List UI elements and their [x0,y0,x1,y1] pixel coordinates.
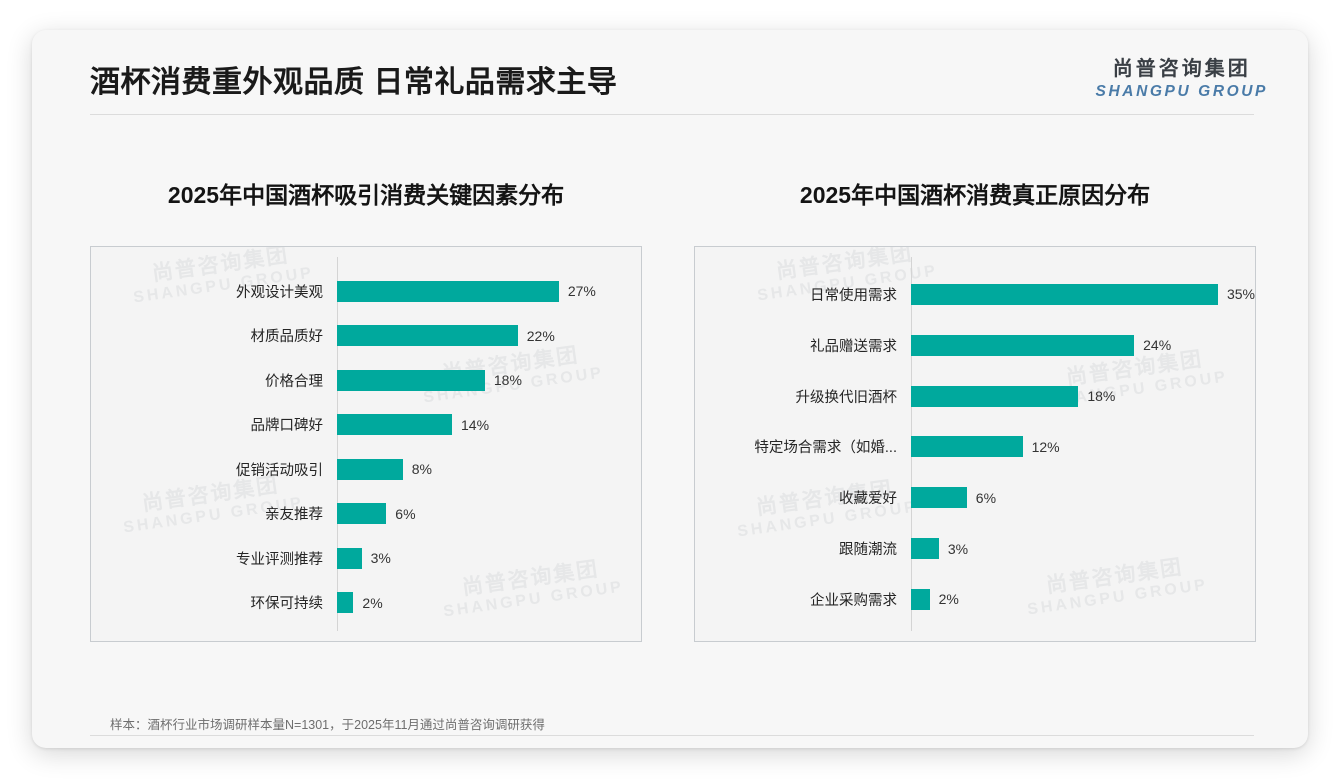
bar-track: 6% [337,501,641,527]
bar-value-label: 18% [1087,388,1115,404]
bar-category-label: 升级换代旧酒杯 [695,386,911,407]
bar-row: 收藏爱好6% [695,485,1255,511]
slide-footer: ©2026.1 SHANGPU GROUP www.shangpu-china.… [32,736,1308,748]
bar-value-label: 2% [939,591,959,607]
bar-row: 环保可持续2% [91,590,641,616]
slide-canvas: 酒杯消费重外观品质 日常礼品需求主导 尚普咨询集团 SHANGPU GROUP … [32,30,1308,748]
bar-category-label: 材质品质好 [91,325,337,346]
bar-row: 材质品质好22% [91,323,641,349]
bar-category-label: 日常使用需求 [695,284,911,305]
bar-row: 跟随潮流3% [695,536,1255,562]
bar-segment[interactable] [911,386,1078,407]
bar-value-label: 3% [948,541,968,557]
bar-track: 22% [337,323,641,349]
bar-track: 14% [337,412,641,438]
bar-segment[interactable] [337,592,353,613]
bar-category-label: 价格合理 [91,370,337,391]
bar-category-label: 跟随潮流 [695,538,911,559]
bar-segment[interactable] [337,503,386,524]
bar-category-label: 企业采购需求 [695,589,911,610]
bar-category-label: 专业评测推荐 [91,548,337,569]
bar-row: 亲友推荐6% [91,501,641,527]
bar-segment[interactable] [911,538,939,559]
sample-note: 样本：酒杯行业市场调研样本量N=1301，于2025年11月通过尚普咨询调研获得 [110,714,545,733]
bar-track: 3% [337,545,641,571]
bar-track: 3% [911,536,1255,562]
bar-segment[interactable] [911,487,967,508]
bar-value-label: 2% [362,595,382,611]
bar-segment[interactable] [337,414,452,435]
bar-value-label: 27% [568,283,596,299]
bar-value-label: 8% [412,461,432,477]
charts-region: 2025年中国酒杯吸引消费关键因素分布 尚普咨询集团 SHANGPU GROUP… [32,122,1308,682]
bar-row: 特定场合需求（如婚...12% [695,434,1255,460]
bar-value-label: 24% [1143,337,1171,353]
bar-value-label: 18% [494,372,522,388]
bar-row: 升级换代旧酒杯18% [695,383,1255,409]
bar-rows-left: 外观设计美观27%材质品质好22%价格合理18%品牌口碑好14%促销活动吸引8%… [91,247,641,641]
bar-segment[interactable] [911,335,1134,356]
bar-segment[interactable] [337,548,362,569]
bar-category-label: 环保可持续 [91,592,337,613]
chart-plot-area-left: 尚普咨询集团 SHANGPU GROUP 尚普咨询集团 SHANGPU GROU… [90,246,642,642]
bar-category-label: 特定场合需求（如婚... [695,436,911,457]
chart-title-left: 2025年中国酒杯吸引消费关键因素分布 [90,176,642,210]
bar-category-label: 促销活动吸引 [91,459,337,480]
bar-category-label: 收藏爱好 [695,487,911,508]
bar-value-label: 22% [527,328,555,344]
chart-panel-left: 2025年中国酒杯吸引消费关键因素分布 尚普咨询集团 SHANGPU GROUP… [90,122,642,682]
bar-track: 8% [337,456,641,482]
bar-segment[interactable] [337,370,485,391]
slide-header: 酒杯消费重外观品质 日常礼品需求主导 尚普咨询集团 SHANGPU GROUP [32,30,1308,122]
bar-value-label: 14% [461,417,489,433]
bar-value-label: 35% [1227,286,1255,302]
bar-category-label: 外观设计美观 [91,281,337,302]
chart-plot-area-right: 尚普咨询集团 SHANGPU GROUP 尚普咨询集团 SHANGPU GROU… [694,246,1256,642]
bar-track: 18% [337,367,641,393]
bar-category-label: 礼品赠送需求 [695,335,911,356]
bar-track: 35% [911,281,1255,307]
bar-track: 2% [337,590,641,616]
bar-segment[interactable] [911,436,1023,457]
bar-track: 6% [911,485,1255,511]
brand-logo-en: SHANGPU GROUP [1096,84,1268,100]
bar-value-label: 3% [371,550,391,566]
bar-segment[interactable] [337,281,559,302]
page-title: 酒杯消费重外观品质 日常礼品需求主导 [90,57,617,101]
bar-track: 24% [911,332,1255,358]
bar-track: 27% [337,278,641,304]
bar-track: 12% [911,434,1255,460]
bar-segment[interactable] [911,589,930,610]
bar-category-label: 亲友推荐 [91,503,337,524]
bar-row: 专业评测推荐3% [91,545,641,571]
header-divider [90,114,1254,115]
bar-track: 18% [911,383,1255,409]
bar-row: 价格合理18% [91,367,641,393]
bar-row: 企业采购需求2% [695,586,1255,612]
brand-logo-cn: 尚普咨询集团 [1096,59,1268,79]
bar-category-label: 品牌口碑好 [91,414,337,435]
bar-track: 2% [911,586,1255,612]
bar-row: 日常使用需求35% [695,281,1255,307]
chart-title-right: 2025年中国酒杯消费真正原因分布 [694,176,1256,210]
bar-value-label: 6% [395,506,415,522]
bar-value-label: 12% [1032,439,1060,455]
bar-row: 礼品赠送需求24% [695,332,1255,358]
bar-value-label: 6% [976,490,996,506]
bar-segment[interactable] [911,284,1218,305]
bar-row: 外观设计美观27% [91,278,641,304]
brand-logo: 尚普咨询集团 SHANGPU GROUP [1096,59,1268,100]
bar-rows-right: 日常使用需求35%礼品赠送需求24%升级换代旧酒杯18%特定场合需求（如婚...… [695,247,1255,641]
bar-segment[interactable] [337,325,518,346]
bar-row: 品牌口碑好14% [91,412,641,438]
bar-row: 促销活动吸引8% [91,456,641,482]
chart-panel-right: 2025年中国酒杯消费真正原因分布 尚普咨询集团 SHANGPU GROUP 尚… [694,122,1256,682]
bar-segment[interactable] [337,459,403,480]
